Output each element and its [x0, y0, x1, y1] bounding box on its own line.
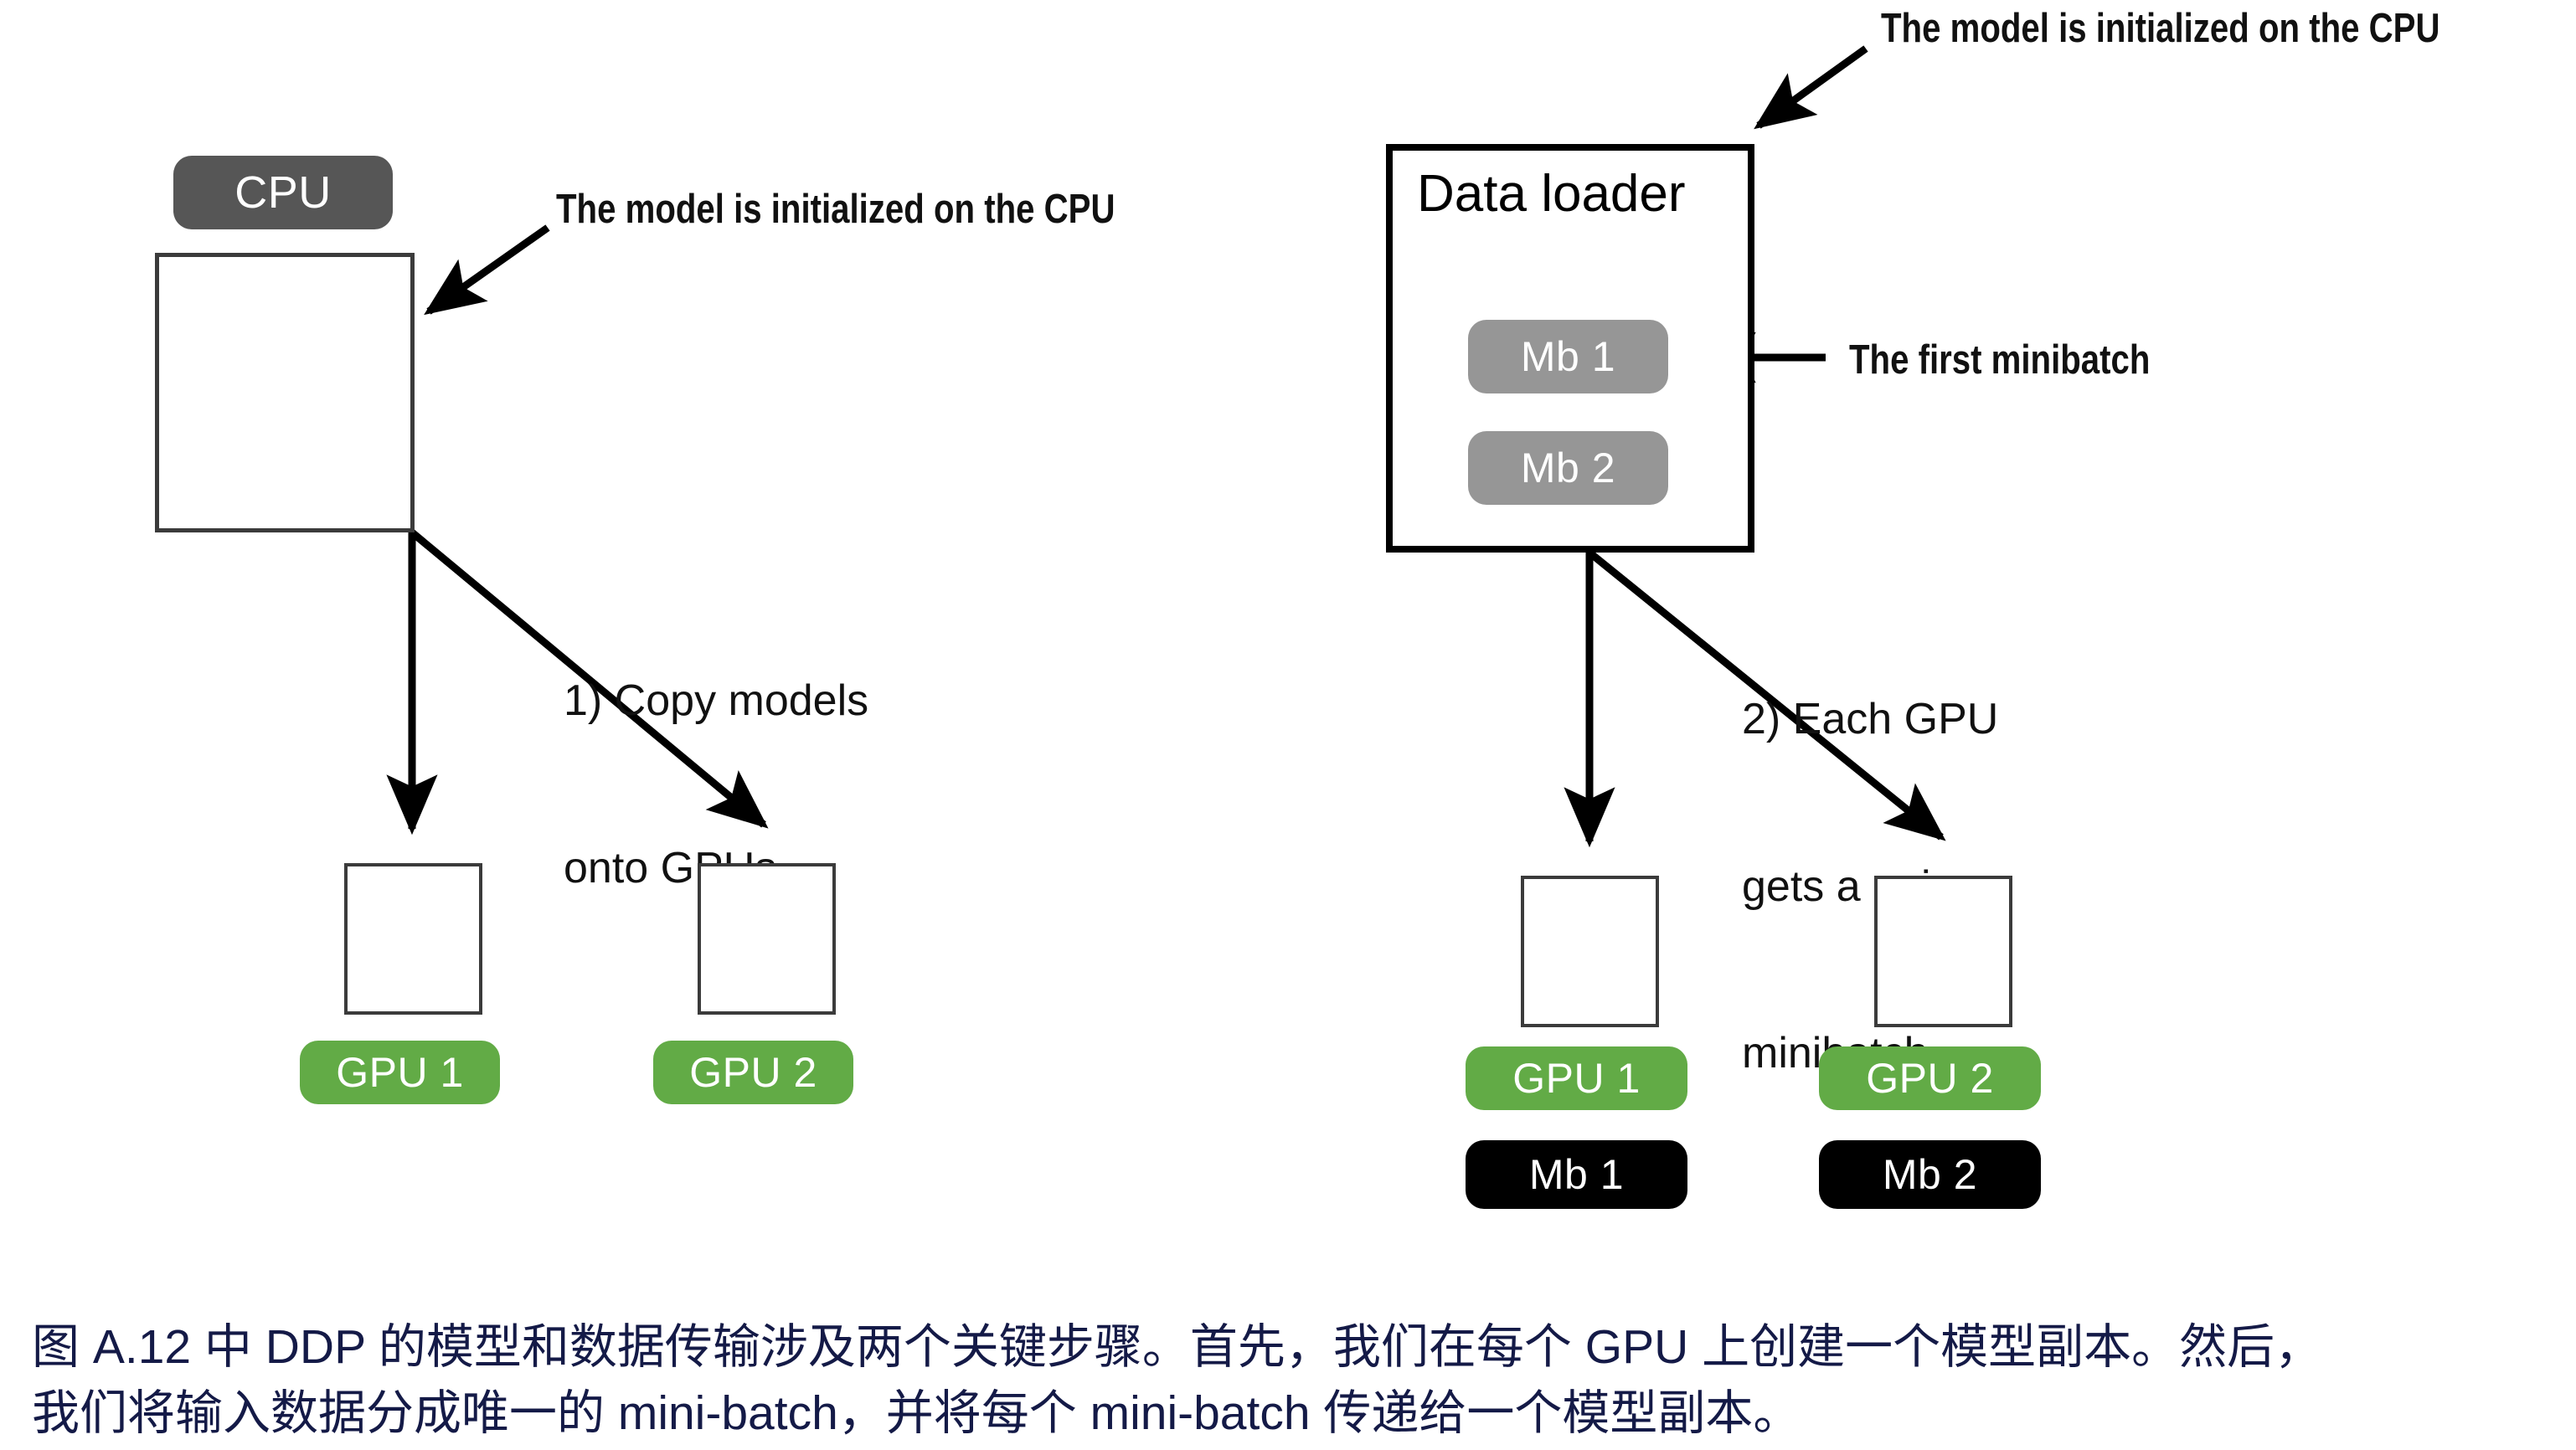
right-gpu1-model-box [1521, 876, 1659, 1027]
loader-minibatch-1-chip[interactable]: Mb 1 [1468, 320, 1668, 393]
right-annotation-arrow [1759, 49, 1866, 126]
left-gpu1-chip[interactable]: GPU 1 [300, 1041, 500, 1104]
right-cpu-init-annotation: The model is initialized on the CPU [1881, 5, 2440, 52]
caption-line-1: 图 A.12 中 DDP 的模型和数据传输涉及两个关键步骤。首先，我们在每个 G… [32, 1314, 2553, 1381]
figure-canvas: CPU The model is initialized on the CPU … [0, 0, 2576, 1450]
figure-caption: 图 A.12 中 DDP 的模型和数据传输涉及两个关键步骤。首先，我们在每个 G… [32, 1314, 2553, 1446]
right-gpu2-model-box [1874, 876, 2012, 1027]
right-gpu1-chip[interactable]: GPU 1 [1466, 1046, 1687, 1110]
right-gpu2-chip[interactable]: GPU 2 [1819, 1046, 2041, 1110]
first-minibatch-annotation: The first minibatch [1849, 337, 2150, 383]
right-gpu1-minibatch-chip[interactable]: Mb 1 [1466, 1140, 1687, 1209]
left-annotation-arrow [429, 228, 548, 311]
left-gpu2-chip[interactable]: GPU 2 [653, 1041, 853, 1104]
data-loader-title: Data loader [1417, 164, 1686, 224]
caption-line-2: 我们将输入数据分成唯一的 mini-batch，并将每个 mini-batch … [32, 1381, 2553, 1447]
step-1-line-1: 1) Copy models [564, 673, 868, 729]
cpu-model-box [155, 253, 415, 532]
right-gpu2-minibatch-chip[interactable]: Mb 2 [1819, 1140, 2041, 1209]
left-cpu-init-annotation: The model is initialized on the CPU [556, 186, 1115, 233]
left-gpu1-model-box [344, 863, 482, 1015]
loader-minibatch-2-chip[interactable]: Mb 2 [1468, 431, 1668, 505]
cpu-chip[interactable]: CPU [173, 156, 393, 229]
left-gpu2-model-box [698, 863, 836, 1015]
step-2-line-1: 2) Each GPU [1742, 692, 2003, 748]
